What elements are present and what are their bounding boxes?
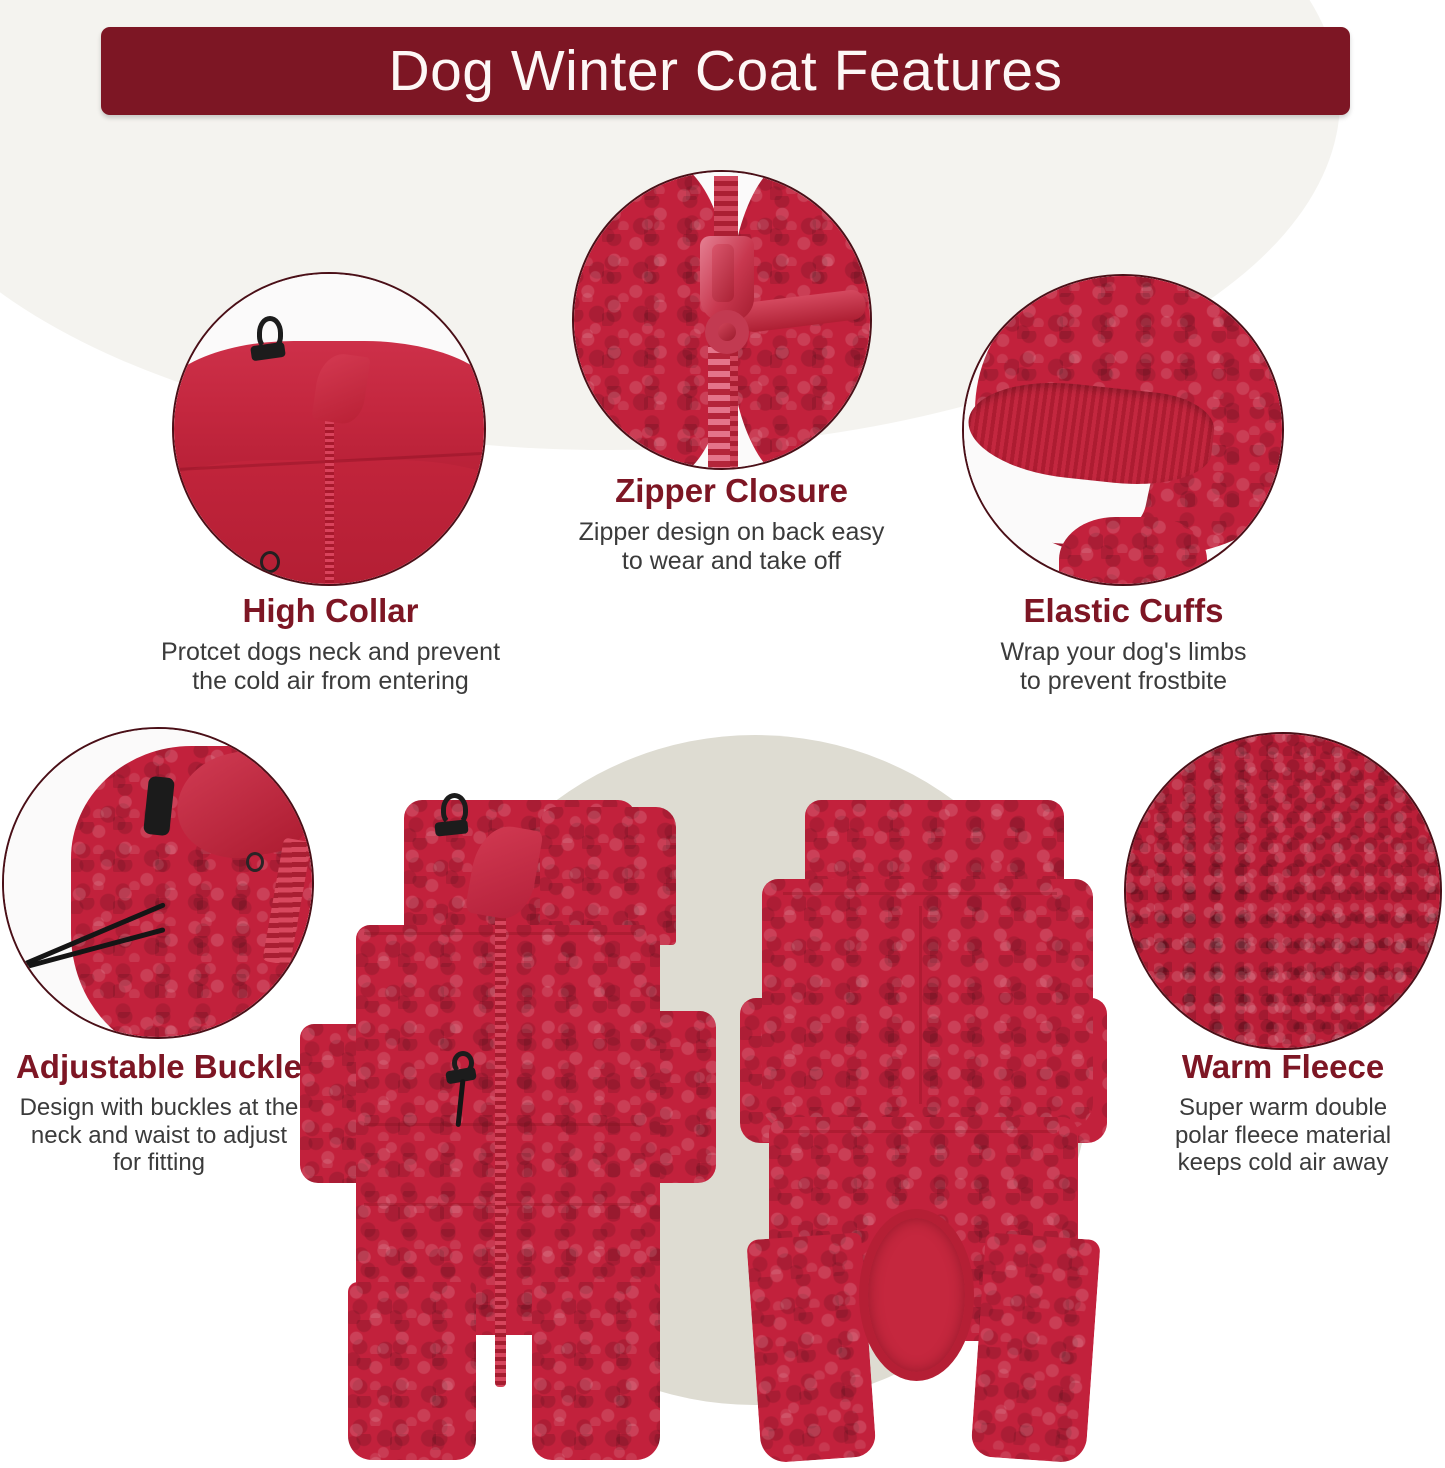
feature-description-adjustable-buckle: Design with buckles at the neck and wais… <box>0 1094 318 1177</box>
feature-caption-high-collar: High Collar Protcet dogs neck and preven… <box>103 592 558 695</box>
zipper-pull-ring <box>705 310 749 354</box>
feature-image-elastic-cuffs <box>962 274 1284 586</box>
page-title: Dog Winter Coat Features <box>388 43 1062 100</box>
back-collar-seam <box>783 892 1057 895</box>
feature-image-warm-fleece <box>1124 732 1442 1050</box>
feature-title-high-collar: High Collar <box>103 592 558 630</box>
back-left-leg <box>747 1232 878 1464</box>
fleece-texture-photo <box>1124 732 1442 1050</box>
title-banner: Dog Winter Coat Features <box>101 27 1350 115</box>
sleeve-lower-fabric <box>1059 517 1207 586</box>
elastic-cuff-photo <box>962 274 1284 586</box>
high-collar-photo <box>172 272 486 586</box>
infographic-canvas: Dog Winter Coat Features <box>0 0 1445 1468</box>
drawstring-toggle-icon <box>247 316 303 368</box>
feature-title-adjustable-buckle: Adjustable Buckle <box>0 1048 318 1086</box>
feature-caption-elastic-cuffs: Elastic Cuffs Wrap your dog's limbs to p… <box>946 592 1301 695</box>
feature-caption-adjustable-buckle: Adjustable Buckle Design with buckles at… <box>0 1048 318 1177</box>
front-left-leg <box>348 1282 476 1460</box>
feature-title-zipper-closure: Zipper Closure <box>504 472 959 510</box>
zipper-pull-icon <box>692 236 764 384</box>
feature-image-adjustable-buckle <box>2 727 314 1039</box>
belly-opening <box>859 1209 974 1381</box>
feature-title-elastic-cuffs: Elastic Cuffs <box>946 592 1301 630</box>
back-shoulder-panel <box>762 879 1093 1130</box>
zipper-photo <box>572 170 872 470</box>
front-torso <box>356 925 660 1334</box>
waist-cord-tail <box>456 1079 466 1127</box>
feature-description-elastic-cuffs: Wrap your dog's limbs to prevent frostbi… <box>946 638 1301 696</box>
eyelet-icon <box>246 852 264 872</box>
feature-title-warm-fleece: Warm Fleece <box>1128 1048 1438 1086</box>
back-center-seam <box>919 906 922 1104</box>
cord-lock-icon <box>143 776 175 836</box>
back-waist-seam <box>783 1130 1057 1133</box>
zipper-slider-tab <box>712 244 734 302</box>
neck-drawstring-toggle-icon <box>432 793 486 847</box>
back-right-leg <box>970 1232 1101 1464</box>
feature-description-warm-fleece: Super warm double polar fleece material … <box>1128 1094 1438 1177</box>
dog-coat-back-view <box>740 800 1100 1460</box>
front-right-leg <box>532 1282 660 1460</box>
feature-description-high-collar: Protcet dogs neck and prevent the cold a… <box>103 638 558 696</box>
feature-description-zipper-closure: Zipper design on back easy to wear and t… <box>504 518 959 576</box>
feature-image-high-collar <box>172 272 486 586</box>
neck-cord-lock <box>434 820 468 837</box>
adjustable-buckle-photo <box>2 727 314 1039</box>
front-collar-right <box>540 807 676 946</box>
waist-drawstring-toggle-icon <box>444 1051 484 1129</box>
feature-caption-warm-fleece: Warm Fleece Super warm double polar flee… <box>1128 1048 1438 1177</box>
dog-coat-front-view <box>300 800 700 1460</box>
cord-lock <box>250 342 286 362</box>
front-zipper <box>495 873 506 1388</box>
feature-caption-zipper-closure: Zipper Closure Zipper design on back eas… <box>504 472 959 575</box>
feature-image-zipper-closure <box>572 170 872 470</box>
